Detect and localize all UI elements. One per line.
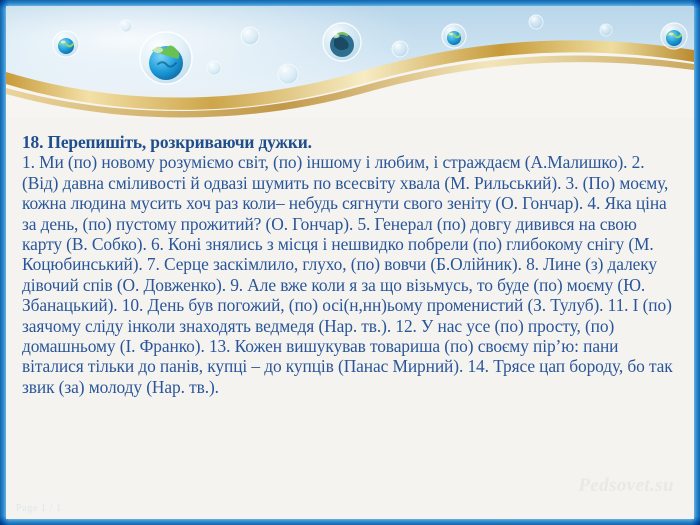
globe-bubble-far-right — [661, 23, 687, 49]
site-watermark: Pedsovet.su — [578, 475, 674, 497]
presentation-slide: 18. Перепишіть, розкриваючи дужки. 1. Ми… — [0, 0, 700, 525]
slide-content: 18. Перепишіть, розкриваючи дужки. 1. Ми… — [6, 118, 694, 519]
globe-bubble-large — [140, 32, 192, 84]
exercise-heading: 18. Перепишіть, розкриваючи дужки. — [22, 132, 678, 152]
slide-canvas: 18. Перепишіть, розкриваючи дужки. 1. Ми… — [6, 6, 694, 519]
banner-artwork — [6, 6, 694, 118]
page-corner-mark: Page 1 / 1 — [16, 503, 62, 514]
globe-bubble-small-left — [53, 31, 79, 57]
globe-bubble-mid — [323, 23, 361, 61]
exercise-body-text: 1. Ми (по) новому розуміємо світ, (по) і… — [22, 152, 678, 397]
globe-bubble-small-right — [442, 24, 466, 48]
header-banner — [6, 6, 694, 118]
